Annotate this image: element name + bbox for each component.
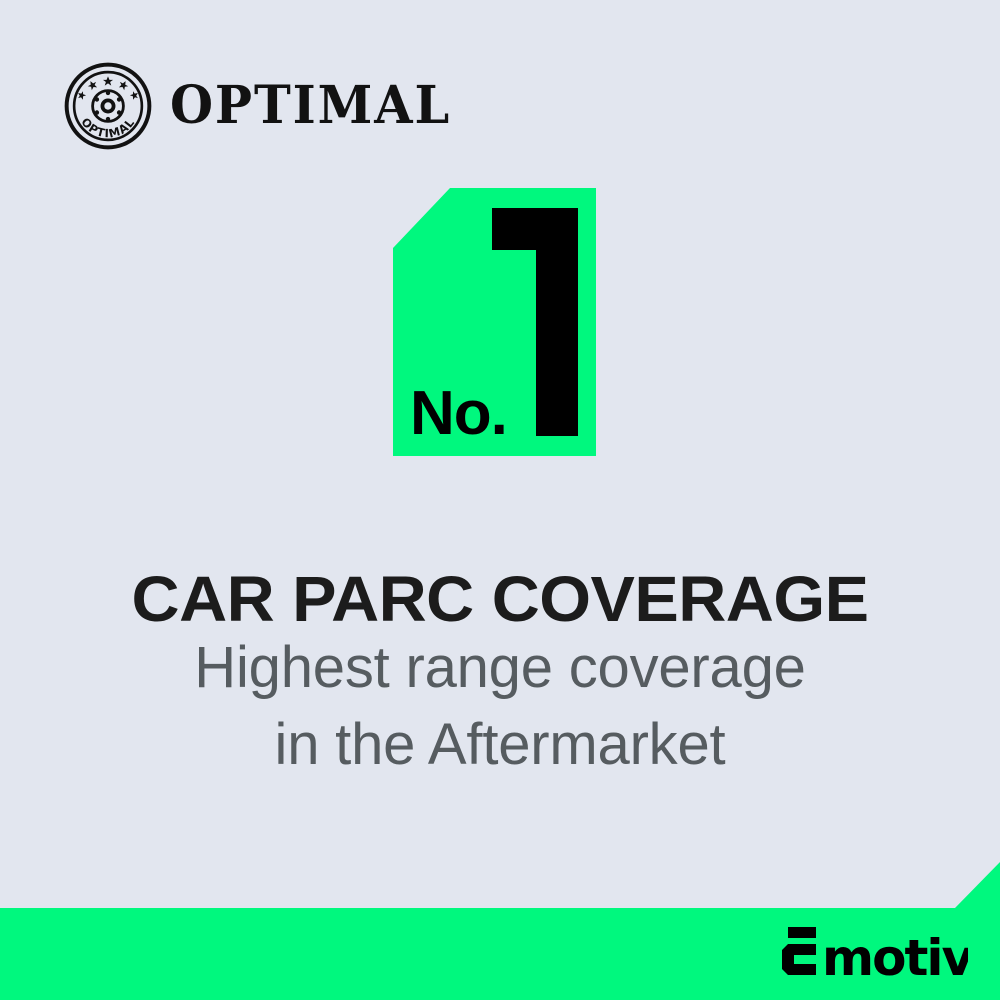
rank-badge: No. xyxy=(393,188,596,456)
optimal-circular-badge-icon: OPTIMAL xyxy=(64,62,152,150)
rank-badge-number xyxy=(480,188,596,456)
page-subtitle-line-2: in the Aftermarket xyxy=(0,707,1000,784)
brand-wordmark: OPTIMAL xyxy=(170,80,451,132)
page-subtitle-line-1: Highest range coverage xyxy=(0,630,1000,707)
brand-header: OPTIMAL OPTIMAL xyxy=(64,62,466,150)
emotive-logo: motive xyxy=(782,925,968,977)
page-subtitle: Highest range coverage in the Aftermarke… xyxy=(0,630,1000,783)
promo-card: OPTIMAL OPTIMAL No. CAR PARC COVERAGE Hi… xyxy=(0,0,1000,1000)
svg-text:motive: motive xyxy=(822,929,968,977)
page-title: CAR PARC COVERAGE xyxy=(0,567,1000,632)
